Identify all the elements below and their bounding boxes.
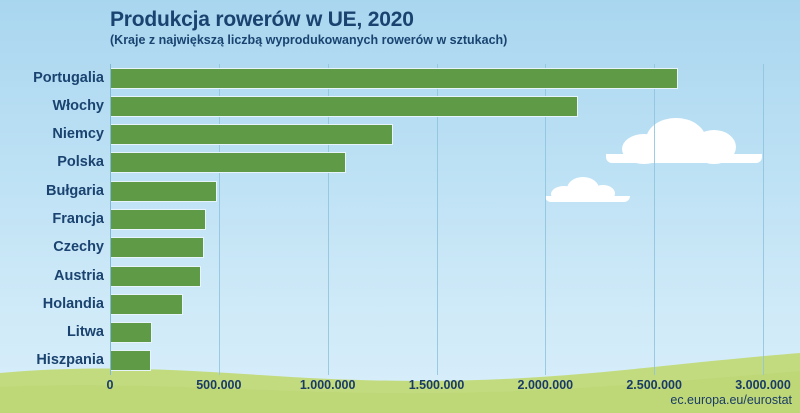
bar-czechy[interactable]: [110, 237, 204, 258]
category-label-włochy: Włochy: [52, 96, 104, 117]
chart-subtitle: (Kraje z największą liczbą wyprodukowany…: [110, 33, 507, 47]
bar-row[interactable]: [110, 124, 763, 145]
bar-litwa[interactable]: [110, 322, 152, 343]
x-tick-label: 3.000.000: [735, 378, 791, 392]
value-axis-baseline: [110, 64, 111, 375]
bar-row[interactable]: [110, 152, 763, 173]
category-label-litwa: Litwa: [67, 322, 104, 343]
x-tick-label: 1.000.000: [300, 378, 356, 392]
bar-row[interactable]: [110, 181, 763, 202]
bar-francja[interactable]: [110, 209, 206, 230]
bar-portugalia[interactable]: [110, 68, 678, 89]
bar-polska[interactable]: [110, 152, 346, 173]
category-label-bułgaria: Bułgaria: [46, 181, 104, 202]
bar-row[interactable]: [110, 209, 763, 230]
bar-row[interactable]: [110, 294, 763, 315]
source-attribution: ec.europa.eu/eurostat: [670, 393, 792, 407]
category-label-austria: Austria: [54, 266, 104, 287]
x-tick-label: 500.000: [196, 378, 241, 392]
category-label-portugalia: Portugalia: [33, 68, 104, 89]
page-title: Produkcja rowerów w UE, 2020: [110, 8, 507, 32]
bar-chart-plot-area: [110, 64, 763, 375]
category-label-niemcy: Niemcy: [52, 124, 104, 145]
x-tick-label: 1.500.000: [409, 378, 465, 392]
category-label-czechy: Czechy: [53, 237, 104, 258]
category-label-polska: Polska: [57, 152, 104, 173]
category-label-hiszpania: Hiszpania: [36, 350, 104, 371]
bar-row[interactable]: [110, 237, 763, 258]
bar-niemcy[interactable]: [110, 124, 393, 145]
bar-row[interactable]: [110, 266, 763, 287]
x-tick-label: 0: [107, 378, 114, 392]
bar-row[interactable]: [110, 350, 763, 371]
x-tick-label: 2.500.000: [626, 378, 682, 392]
bar-row[interactable]: [110, 68, 763, 89]
bar-austria[interactable]: [110, 266, 201, 287]
bar-włochy[interactable]: [110, 96, 578, 117]
category-axis-labels: PortugaliaWłochyNiemcyPolskaBułgariaFran…: [0, 64, 104, 375]
category-label-francja: Francja: [52, 209, 104, 230]
category-label-holandia: Holandia: [43, 294, 104, 315]
bar-row[interactable]: [110, 96, 763, 117]
bar-hiszpania[interactable]: [110, 350, 151, 371]
x-tick-label: 2.000.000: [518, 378, 574, 392]
title-block: Produkcja rowerów w UE, 2020 (Kraje z na…: [110, 8, 507, 47]
bar-bułgaria[interactable]: [110, 181, 217, 202]
bar-holandia[interactable]: [110, 294, 183, 315]
bar-row[interactable]: [110, 322, 763, 343]
gridline: [763, 64, 764, 375]
